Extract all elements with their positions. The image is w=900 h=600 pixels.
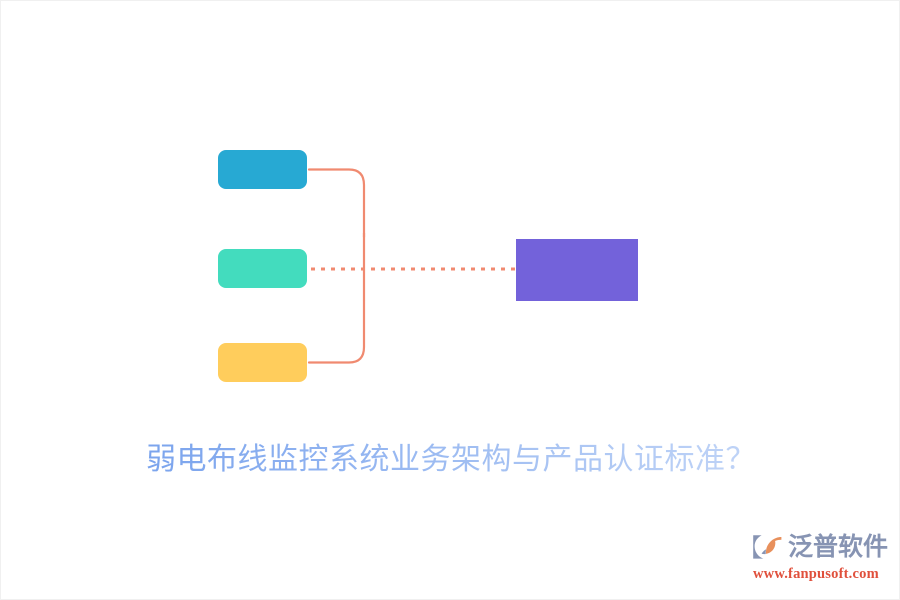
- brand-url: www.fanpusoft.com: [751, 565, 887, 583]
- fanpu-swoosh-icon: [751, 531, 785, 563]
- architecture-diagram: [1, 1, 900, 421]
- brand-name: 泛普软件: [788, 531, 888, 563]
- diagram-node-blue[interactable]: [218, 150, 307, 189]
- diagram-node-yellow[interactable]: [218, 343, 307, 382]
- brand-logo: 泛普软件 www.fanpusoft.com: [751, 529, 887, 587]
- connector-blue-to-spine: [309, 170, 364, 238]
- diagram-connectors: [1, 1, 900, 421]
- diagram-node-purple[interactable]: [516, 239, 638, 301]
- connector-yellow-to-spine: [309, 301, 364, 363]
- screenshot-canvas: 弱电布线监控系统业务架构与产品认证标准？ 泛普软件 www.fanpusoft.…: [0, 0, 900, 600]
- page-title: 弱电布线监控系统业务架构与产品认证标准？: [146, 438, 756, 482]
- brand-logo-row: 泛普软件: [751, 529, 887, 565]
- diagram-node-teal[interactable]: [218, 249, 307, 288]
- page-title-container: 弱电布线监控系统业务架构与产品认证标准？: [1, 438, 900, 482]
